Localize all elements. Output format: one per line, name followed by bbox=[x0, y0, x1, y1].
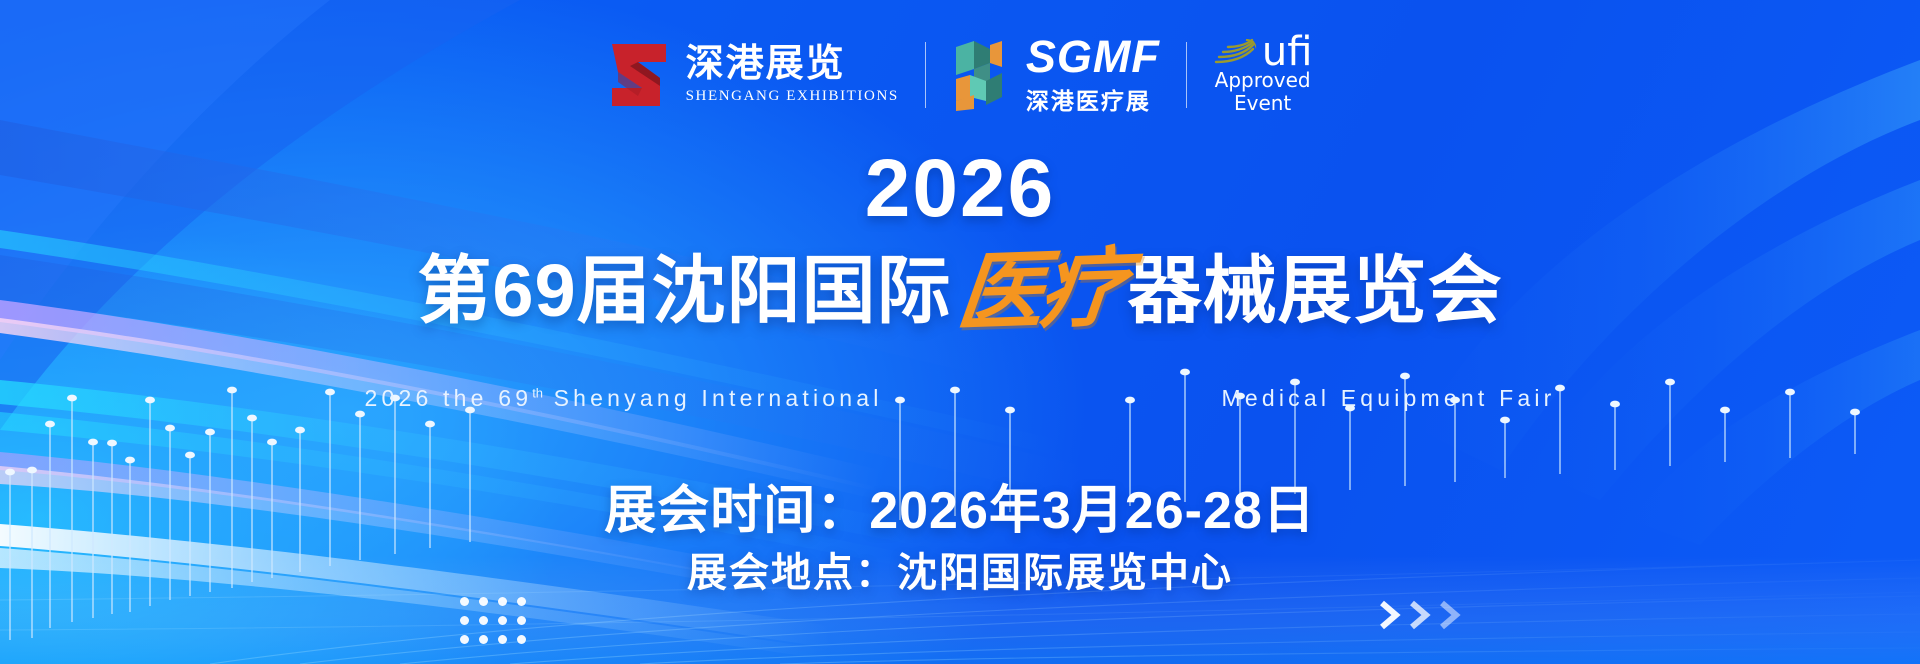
shengang-text-block: 深港展览 SHENGANG EXHIBITIONS bbox=[686, 45, 899, 106]
sgmf-logo: SGMF 深港医疗展 bbox=[952, 34, 1160, 116]
chevron-right-icon bbox=[1378, 600, 1404, 630]
logo-divider-2 bbox=[1186, 42, 1187, 108]
chevron-right-icon bbox=[1408, 600, 1434, 630]
grid-dot bbox=[517, 616, 526, 625]
grid-dot bbox=[498, 597, 507, 606]
ufi-swoosh-icon bbox=[1213, 37, 1259, 67]
headline-part-2: 器械展览会 bbox=[1128, 254, 1503, 328]
ufi-top-row: ufi bbox=[1213, 35, 1313, 69]
subtitle-before: 2026 the 69 bbox=[364, 385, 532, 411]
headline-brush-medical: 医疗 bbox=[949, 245, 1131, 337]
exhibition-date-line: 展会时间：2026年3月26-28日 bbox=[0, 468, 1920, 543]
subtitle-ordinal: th bbox=[532, 385, 543, 400]
grid-dot bbox=[460, 635, 469, 644]
exhibition-venue-line: 展会地点：沈阳国际展览中心 bbox=[0, 540, 1920, 598]
ufi-wordmark: ufi bbox=[1262, 35, 1313, 69]
subtitle-mid: Shenyang International bbox=[543, 385, 883, 411]
grid-dot bbox=[479, 616, 488, 625]
grid-dot bbox=[479, 597, 488, 606]
exhibition-banner: 深港展览 SHENGANG EXHIBITIONS SGMF 深港医疗展 bbox=[0, 0, 1920, 664]
grid-dot bbox=[517, 635, 526, 644]
shengang-logo: 深港展览 SHENGANG EXHIBITIONS bbox=[608, 38, 899, 112]
ufi-event-label: Event bbox=[1234, 93, 1291, 115]
logo-divider-1 bbox=[925, 42, 926, 108]
headline-part-1: 第69届沈阳国际 bbox=[417, 254, 951, 328]
grid-dot bbox=[479, 635, 488, 644]
sgmf-en-name: SGMF bbox=[1026, 34, 1160, 79]
sgmf-cn-name: 深港医疗展 bbox=[1026, 82, 1160, 116]
shengang-en-name: SHENGANG EXHIBITIONS bbox=[686, 88, 899, 105]
year-title: 2026 bbox=[0, 148, 1920, 230]
chevron-arrows-decoration bbox=[1378, 600, 1464, 630]
ufi-approved-label: Approved bbox=[1215, 70, 1311, 92]
grid-dot bbox=[517, 597, 526, 606]
logo-row: 深港展览 SHENGANG EXHIBITIONS SGMF 深港医疗展 bbox=[0, 34, 1920, 116]
chevron-right-icon bbox=[1438, 600, 1464, 630]
subtitle-after: Medical Equipment Fair bbox=[1221, 385, 1555, 411]
dot-grid-decoration bbox=[460, 597, 531, 649]
grid-dot bbox=[498, 616, 507, 625]
grid-dot bbox=[460, 597, 469, 606]
shengang-cn-name: 深港展览 bbox=[686, 45, 899, 85]
sgmf-cube-mark-icon bbox=[952, 39, 1014, 111]
main-headline: 第69届沈阳国际 医疗 器械展览会 bbox=[0, 248, 1920, 334]
english-subtitle: 2026 the 69th Shenyang International Med… bbox=[0, 385, 1920, 412]
sgmf-text-block: SGMF 深港医疗展 bbox=[1026, 34, 1160, 116]
grid-dot bbox=[460, 616, 469, 625]
ufi-approved-event-logo: ufi Approved Event bbox=[1213, 35, 1313, 114]
shengang-s-mark-icon bbox=[608, 38, 674, 112]
grid-dot bbox=[498, 635, 507, 644]
